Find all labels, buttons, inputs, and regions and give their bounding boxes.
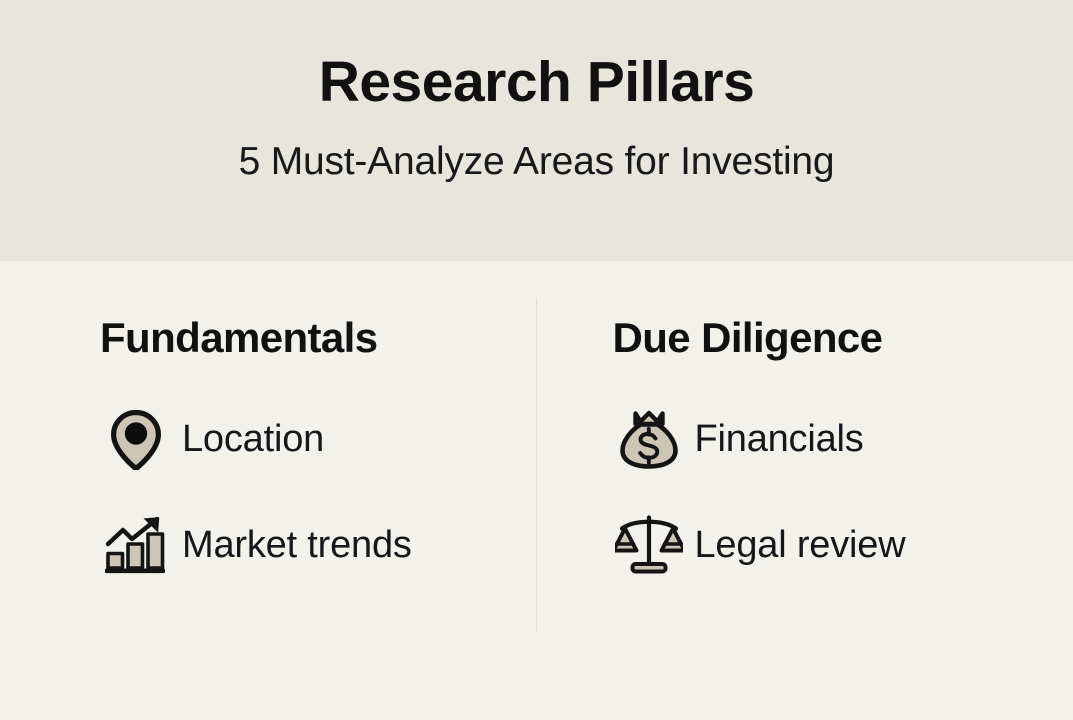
list-item-label: Legal review <box>695 526 906 564</box>
column-heading-due-diligence: Due Diligence <box>613 316 1073 360</box>
column-heading-fundamentals: Fundamentals <box>100 316 537 360</box>
list-item-label: Location <box>182 420 324 458</box>
list-item[interactable]: Market trends <box>100 510 537 580</box>
page-title: Research Pillars <box>319 52 755 114</box>
location-pin-icon <box>100 404 172 474</box>
content-area: Fundamentals Location <box>0 261 1073 720</box>
list-item-label: Financials <box>695 420 864 458</box>
column-fundamentals: Fundamentals Location <box>0 261 537 720</box>
columns-container: Fundamentals Location <box>0 261 1073 720</box>
money-bag-icon <box>613 404 685 474</box>
list-item[interactable]: Financials <box>613 404 1073 474</box>
column-due-diligence: Due Diligence <box>537 261 1073 720</box>
list-item[interactable]: Legal review <box>613 510 1073 580</box>
bar-chart-trend-icon <box>100 510 172 580</box>
header-band: Research Pillars 5 Must-Analyze Areas fo… <box>0 0 1073 261</box>
list-item-label: Market trends <box>182 526 412 564</box>
list-item[interactable]: Location <box>100 404 537 474</box>
slide-root: Research Pillars 5 Must-Analyze Areas fo… <box>0 0 1073 720</box>
page-subtitle: 5 Must-Analyze Areas for Investing <box>239 141 835 184</box>
balance-scales-icon <box>613 510 685 580</box>
